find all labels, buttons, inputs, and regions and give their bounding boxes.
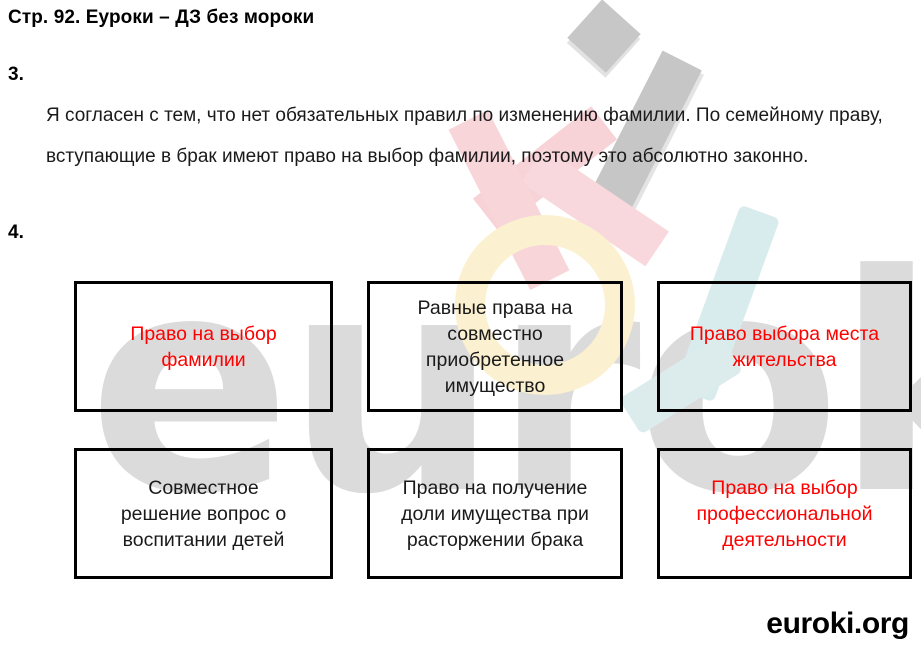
concept-box-label: Равные права на совместно приобретенное … bbox=[418, 295, 573, 399]
concept-box-joint-property: Равные права на совместно приобретенное … bbox=[367, 281, 623, 412]
page-canvas: euroki Стр. 92. Еуроки – ДЗ без мороки 3… bbox=[0, 0, 921, 649]
concept-box-child-upbringing: Совместное решение вопрос о воспитании д… bbox=[74, 448, 333, 579]
task-3-answer: Я согласен с тем, что нет обязательных п… bbox=[46, 95, 896, 177]
concept-box-property-share: Право на получение доли имущества при ра… bbox=[367, 448, 623, 579]
site-logo: euroki.org bbox=[766, 607, 909, 641]
page-title: Стр. 92. Еуроки – ДЗ без мороки bbox=[8, 7, 314, 29]
concept-box-surname-choice: Право на выбор фамилии bbox=[74, 281, 333, 412]
concept-box-label: Право на выбор профессиональной деятельн… bbox=[696, 475, 872, 553]
watermark-i-dot-shape bbox=[567, 0, 640, 73]
rights-box-grid: Право на выбор фамилии Равные права на с… bbox=[74, 281, 912, 579]
task-number-4: 4. bbox=[8, 222, 24, 244]
task-number-3: 3. bbox=[8, 64, 24, 86]
concept-box-label: Совместное решение вопрос о воспитании д… bbox=[121, 475, 286, 553]
concept-box-label: Право на выбор фамилии bbox=[130, 321, 276, 373]
concept-box-label: Право на получение доли имущества при ра… bbox=[401, 475, 589, 553]
task-3-answer-text: Я согласен с тем, что нет обязательных п… bbox=[46, 95, 896, 177]
concept-box-profession-choice: Право на выбор профессиональной деятельн… bbox=[657, 448, 912, 579]
concept-box-label: Право выбора места жительства bbox=[690, 321, 879, 373]
concept-box-residence-choice: Право выбора места жительства bbox=[657, 281, 912, 412]
